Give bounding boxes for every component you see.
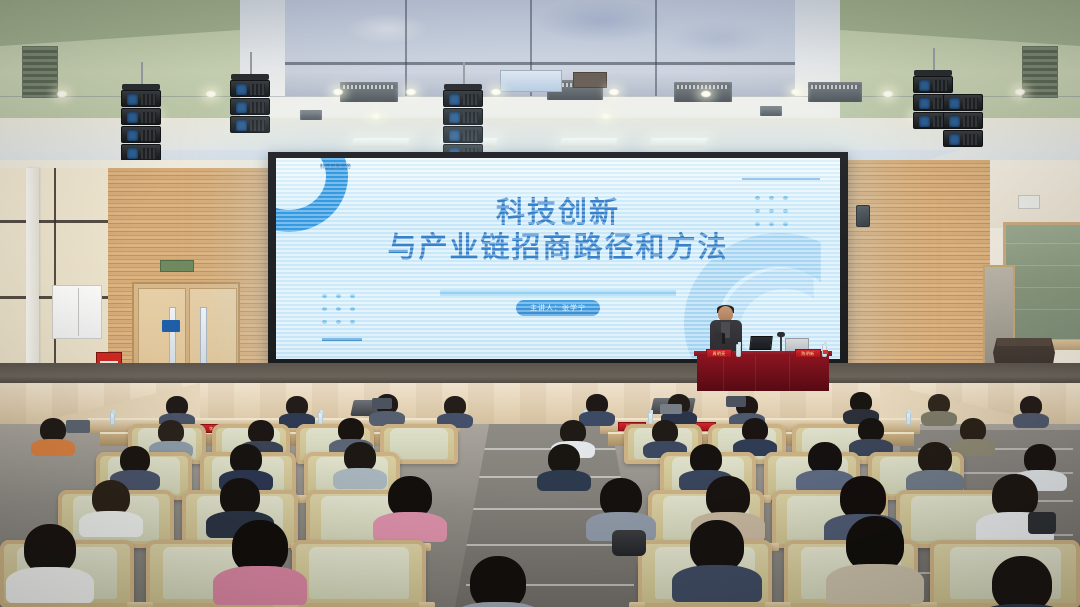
audience-person — [850, 392, 872, 412]
slide-accent-line-top-right — [742, 178, 820, 180]
air-vent-icon — [1022, 46, 1058, 98]
wall-speaker-icon — [856, 205, 870, 227]
audience-person — [470, 556, 526, 607]
audience-person — [444, 396, 466, 416]
slide-dot-grid-bottom-left — [322, 294, 355, 324]
handheld-microphone-icon — [722, 333, 725, 344]
ceiling-projector-panel — [500, 70, 562, 92]
audience-person — [344, 442, 376, 472]
led-presentation-screen: 科技创新服务 科技创新 与产业链招商路径和方法 主讲人：张学宁 — [268, 152, 848, 365]
audience-person — [706, 476, 750, 518]
audience-person — [918, 442, 952, 474]
electrical-panel[interactable] — [52, 285, 102, 339]
linear-light-icon — [648, 138, 708, 148]
table-name-card: 陈明新 — [795, 349, 821, 358]
audience-person — [560, 420, 586, 444]
audience-person — [92, 480, 130, 516]
linear-light-icon — [558, 138, 618, 148]
downlight-icon — [56, 90, 68, 98]
smartphone-icon — [372, 398, 392, 409]
table-name-card: 周明亮 — [706, 349, 732, 358]
audience-person — [808, 442, 842, 474]
audience-person — [742, 418, 768, 442]
ceiling-access-hatch — [573, 72, 607, 88]
presenter-table — [697, 355, 829, 391]
downlight-icon — [882, 90, 894, 98]
slide-speaker-badge: 主讲人：张学宁 — [516, 300, 600, 316]
downlight-icon — [490, 88, 502, 96]
slide-title: 科技创新 与产业链招商路径和方法 — [276, 196, 840, 267]
ceiling-vent-icon — [340, 82, 398, 102]
audience-person — [232, 520, 288, 574]
audience-person — [24, 524, 76, 574]
audience-person — [166, 396, 188, 416]
downlight-icon — [700, 90, 712, 98]
audience-person — [230, 444, 262, 474]
fire-exit-placard — [162, 320, 180, 332]
water-bottle — [822, 344, 827, 357]
audience-person — [548, 444, 580, 474]
audience-person — [158, 420, 184, 444]
slide-corner-logo: 科技创新服务 — [320, 164, 372, 180]
slide-title-line2: 与产业链招商路径和方法 — [276, 231, 840, 266]
audience-person — [690, 520, 744, 572]
air-vent-icon — [22, 46, 58, 98]
stage-skirt — [0, 363, 1080, 385]
audience-person — [338, 418, 364, 442]
ceiling-vent-icon — [808, 82, 862, 102]
audience-person — [600, 478, 642, 518]
smartphone-icon — [726, 396, 746, 407]
audience-person — [846, 516, 904, 572]
downlight-icon — [205, 90, 217, 98]
audience-person — [840, 476, 886, 520]
downlight-icon — [332, 88, 344, 96]
recording-device — [660, 404, 682, 414]
audience-person — [1020, 396, 1042, 416]
audience-person — [586, 394, 608, 414]
exit-sign — [160, 260, 194, 272]
audience-person — [1024, 444, 1056, 474]
slide-title-underline — [440, 290, 676, 296]
ceiling-vent-icon — [300, 110, 322, 120]
audience-person — [220, 478, 260, 516]
audience-person — [652, 420, 678, 444]
linear-light-icon — [350, 138, 410, 148]
audience-person — [858, 418, 884, 442]
audience-person — [690, 444, 722, 474]
audience-person — [992, 556, 1052, 607]
downlight-icon — [1014, 88, 1026, 96]
downlight-icon — [790, 88, 802, 96]
smartphone-icon — [66, 420, 90, 433]
downlight-icon — [370, 112, 382, 120]
bag — [1028, 512, 1056, 534]
auditorium-scene: 科技创新服务 科技创新 与产业链招商路径和方法 主讲人：张学宁 — [0, 0, 1080, 607]
slide-accent-line-bottom-left — [322, 338, 362, 341]
ceiling-vent-icon — [760, 106, 782, 116]
water-bottle — [906, 412, 911, 425]
auditorium-seat[interactable] — [292, 540, 426, 607]
audience-person — [248, 420, 274, 444]
audience-person — [40, 418, 66, 442]
slide-title-line1: 科技创新 — [276, 196, 840, 231]
audience-person — [286, 396, 308, 416]
backpack — [612, 530, 646, 556]
downlight-icon — [608, 88, 620, 96]
downlight-icon — [405, 88, 417, 96]
downlight-icon — [600, 112, 612, 120]
audience-person — [960, 418, 986, 442]
water-bottle — [736, 344, 741, 357]
slide-canvas: 科技创新服务 科技创新 与产业链招商路径和方法 主讲人：张学宁 — [276, 158, 840, 359]
audience-person — [388, 476, 432, 518]
wall-control-box[interactable] — [1018, 195, 1040, 209]
water-bottle — [110, 412, 115, 425]
audience-person — [120, 446, 150, 474]
audience-person — [928, 394, 950, 414]
